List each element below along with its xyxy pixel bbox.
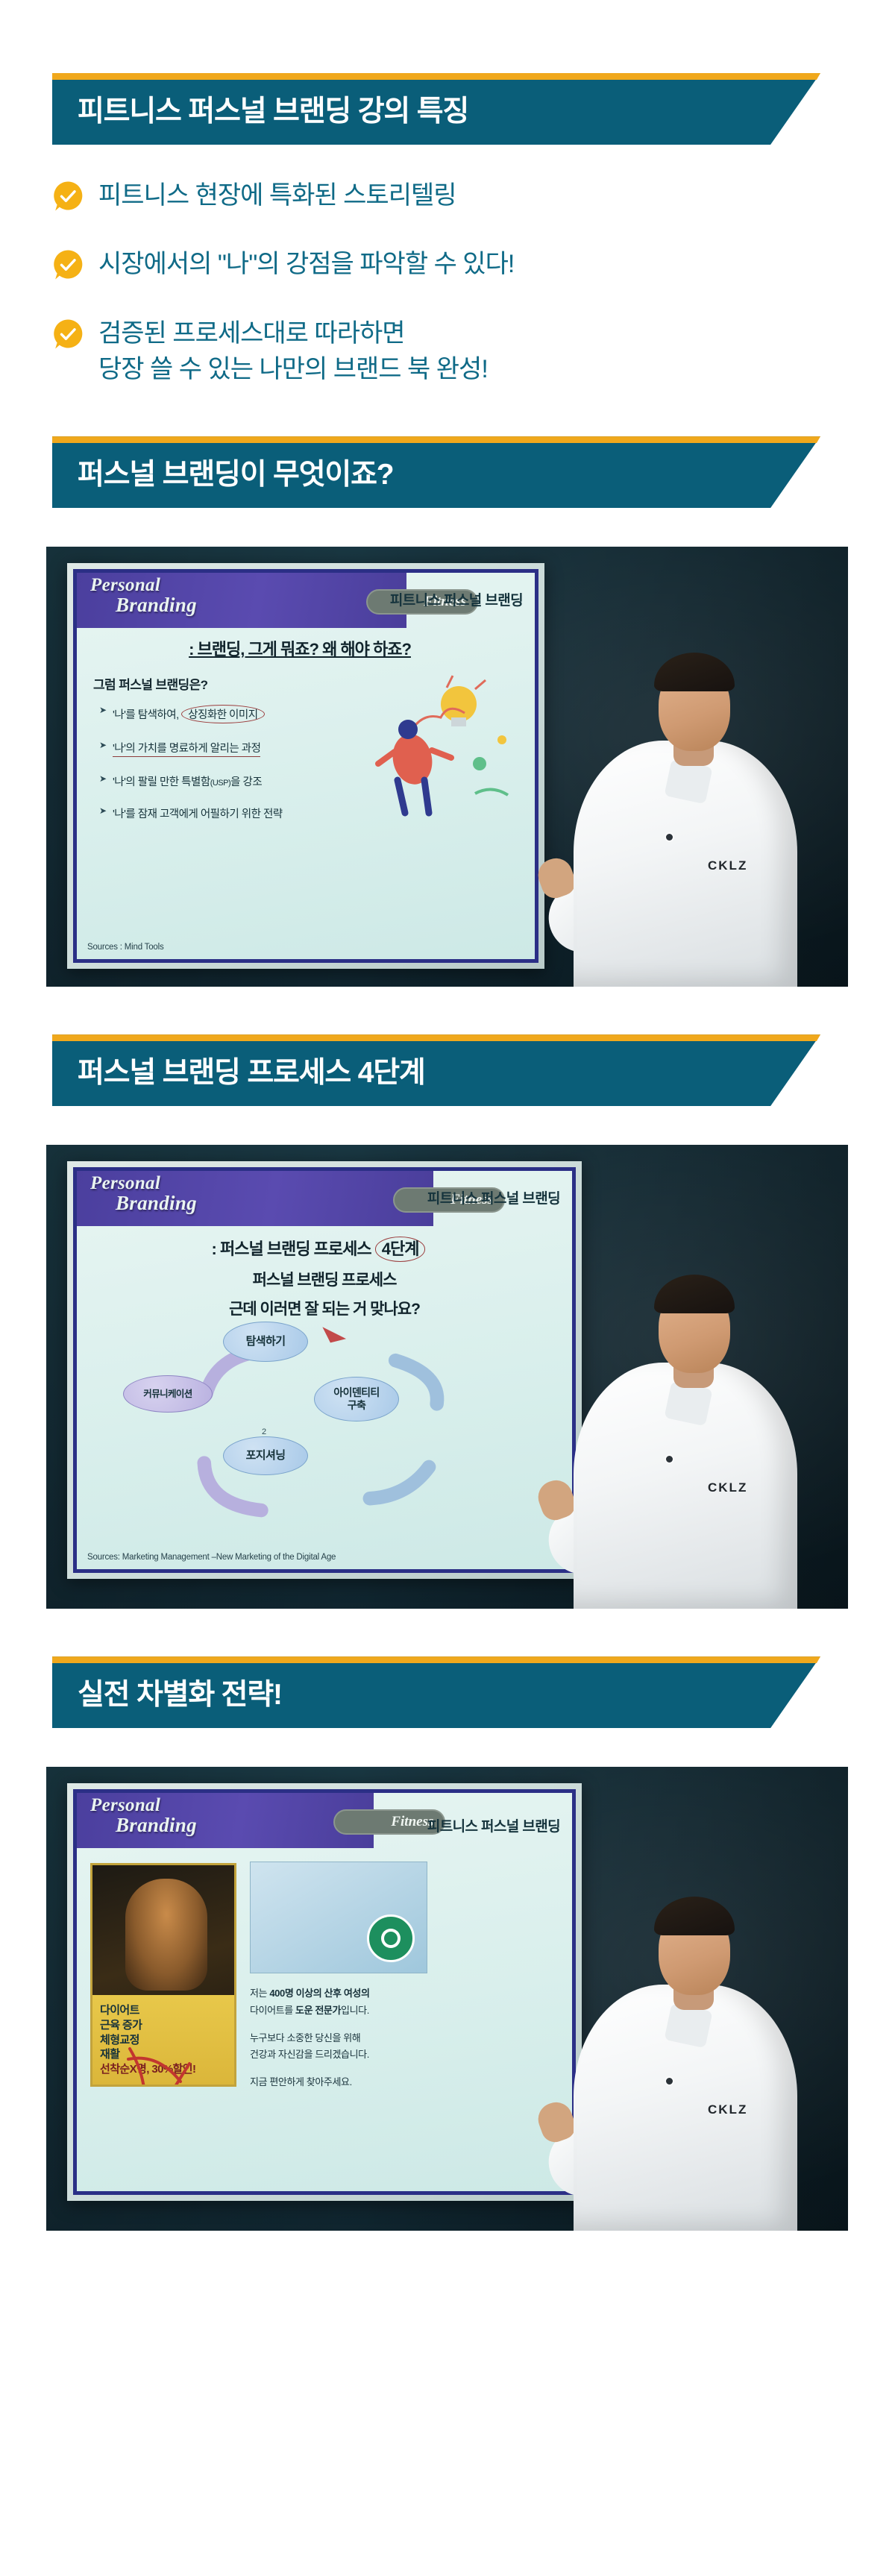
slide-frame: Personal Branding Fitness 피트니스 퍼스널 브랜딩 :… — [73, 1167, 576, 1573]
shirt-logo: CKLZ — [708, 1480, 747, 1495]
process-diagram: 탐색하기 아이덴티티 구축 포지셔닝 커뮤니케이션 2 — [77, 1317, 572, 1544]
shirt-logo: CKLZ — [708, 858, 747, 873]
presenter-hair — [654, 653, 735, 691]
promo-poster-panel: 다이어트 근육 증가 체형교정 재활 선착순X명, 30%할인! — [90, 1863, 236, 2087]
branding-illustration — [363, 668, 526, 829]
presenter-figure: CKLZ — [535, 547, 848, 987]
banner-title-differentiation: 실전 차별화 전략! — [78, 1656, 282, 1728]
spacer — [0, 1609, 895, 1656]
microphone-icon — [666, 1456, 673, 1463]
slide-subtitle: : 브랜딩, 그게 뭐죠? 왜 해야 하죠? — [77, 638, 523, 661]
personal-branding-logo: Personal Branding — [90, 1174, 197, 1213]
personal-branding-logo: Personal Branding — [90, 1796, 197, 1835]
banner-accent-bar — [52, 1034, 820, 1041]
promo-line: 근육 증가 — [100, 2018, 195, 2033]
presenter-figure: CKLZ — [535, 1169, 848, 1609]
presenter-hair — [654, 1275, 735, 1313]
logo-line-1: Personal — [90, 1173, 160, 1193]
promo-body: 다이어트 근육 증가 체형교정 재활 선착순X명, 30%할인! — [92, 1995, 234, 2085]
spacer — [0, 987, 895, 1034]
spacer — [0, 387, 895, 436]
banner-title-process: 퍼스널 브랜딩 프로세스 4단계 — [78, 1034, 425, 1106]
slide-subtitle: : 퍼스널 브랜딩 프로세스 4단계 — [77, 1237, 560, 1262]
spacer — [0, 1106, 895, 1145]
feature-bullet-list: 피트니스 현장에 특화된 스토리텔링 시장에서의 "나"의 강점을 파악할 수 … — [0, 178, 895, 387]
slide-frame: Personal Branding Fitness 피트니스 퍼스널 브랜딩 :… — [73, 569, 538, 963]
spacer — [0, 1728, 895, 1767]
banner-accent-bar — [52, 1656, 820, 1663]
copy-paragraph: 지금 편안하게 찾아주세요. — [250, 2074, 436, 2091]
lecture-screenshot-3: Personal Branding Fitness 피트니스 퍼스널 브랜딩 다… — [46, 1767, 848, 2231]
banner-accent-bar — [52, 73, 820, 80]
shirt-logo: CKLZ — [708, 2102, 747, 2117]
promo-discount: 선착순X명, 30%할인! — [100, 2062, 195, 2077]
bullet-line: 시장에서의 "나"의 강점을 파악할 수 있다! — [98, 246, 514, 282]
projector-screen-1: Personal Branding Fitness 피트니스 퍼스널 브랜딩 :… — [67, 563, 544, 969]
brand-badge-icon — [367, 1914, 415, 1962]
logo-line-2: Branding — [90, 595, 197, 616]
promo-text: 다이어트 근육 증가 체형교정 재활 선착순X명, 30%할인! — [100, 2003, 195, 2077]
process-node-1: 탐색하기 — [223, 1322, 308, 1362]
slide-course-title: 피트니스 퍼스널 브랜딩 — [390, 589, 523, 609]
lecture-screenshot-1: Personal Branding Fitness 피트니스 퍼스널 브랜딩 :… — [46, 547, 848, 987]
personal-branding-logo: Personal Branding — [90, 576, 197, 615]
microphone-icon — [666, 2078, 673, 2085]
logo-line-1: Personal — [90, 575, 160, 595]
check-circle-icon — [52, 180, 84, 212]
bullet-line: 피트니스 현장에 특화된 스토리텔링 — [98, 178, 456, 213]
slide-sources: Sources : Mind Tools — [87, 943, 164, 952]
section-banner-what-is-pb: 퍼스널 브랜딩이 무엇이죠? — [52, 436, 820, 508]
spacer — [0, 508, 895, 547]
bullet-line: 검증된 프로세스대로 따라하면 — [98, 315, 488, 351]
microphone-icon — [666, 834, 673, 841]
circled-phrase: 4단계 — [375, 1237, 426, 1262]
section-banner-features: 피트니스 퍼스널 브랜딩 강의 특징 — [52, 73, 820, 145]
projector-screen-2: Personal Branding Fitness 피트니스 퍼스널 브랜딩 :… — [67, 1161, 582, 1579]
slide-logo-bar: Personal Branding Fitness — [77, 573, 406, 628]
copy-paragraph: 저는 400명 이상의 산후 여성의 다이어트를 도운 전문가입니다. — [250, 1985, 436, 2020]
testimonial-image-panel — [250, 1862, 427, 1973]
testimonial-copy: 저는 400명 이상의 산후 여성의 다이어트를 도운 전문가입니다. 누구보다… — [250, 1985, 436, 2102]
bullet-line: 당장 쓸 수 있는 나만의 브랜드 북 완성! — [98, 351, 488, 387]
list-item: 검증된 프로세스대로 따라하면 당장 쓸 수 있는 나만의 브랜드 북 완성! — [52, 315, 895, 388]
banner-accent-bar — [52, 436, 820, 443]
promo-line: 다이어트 — [100, 2003, 195, 2018]
hero-figure-image — [125, 1879, 207, 1991]
projector-screen-3: Personal Branding Fitness 피트니스 퍼스널 브랜딩 다… — [67, 1783, 582, 2201]
list-item: 시장에서의 "나"의 강점을 파악할 수 있다! — [52, 246, 895, 282]
list-item-text: 피트니스 현장에 특화된 스토리텔링 — [98, 178, 456, 213]
presenter-hair — [654, 1897, 735, 1935]
promo-line: 체형교정 — [100, 2033, 195, 2048]
promo-line: 재활 — [100, 2047, 195, 2062]
list-item-text: 시장에서의 "나"의 강점을 파악할 수 있다! — [98, 246, 514, 282]
top-spacer — [0, 0, 895, 73]
slide-logo-bar: Personal Branding Fitness — [77, 1171, 433, 1226]
section-banner-differentiation: 실전 차별화 전략! — [52, 1656, 820, 1728]
spacer — [0, 145, 895, 178]
slide-sources: Sources: Marketing Management –New Marke… — [87, 1553, 336, 1562]
list-item: 피트니스 현장에 특화된 스토리텔링 — [52, 178, 895, 213]
banner-title-features: 피트니스 퍼스널 브랜딩 강의 특징 — [78, 73, 468, 145]
logo-line-2: Branding — [90, 1193, 197, 1214]
section-banner-process: 퍼스널 브랜딩 프로세스 4단계 — [52, 1034, 820, 1106]
landing-page: 피트니스 퍼스널 브랜딩 강의 특징 피트니스 현장에 특화된 스토리텔링 — [0, 0, 895, 2576]
process-node-2: 아이덴티티 구축 — [314, 1377, 399, 1421]
logo-line-1: Personal — [90, 1795, 160, 1815]
step-mark: 2 — [262, 1427, 266, 1436]
slide-frame: Personal Branding Fitness 피트니스 퍼스널 브랜딩 다… — [73, 1789, 576, 2195]
list-item-text: 검증된 프로세스대로 따라하면 당장 쓸 수 있는 나만의 브랜드 북 완성! — [98, 315, 488, 388]
presenter-figure: CKLZ — [535, 1791, 848, 2231]
check-circle-icon — [52, 318, 84, 350]
banner-title-what-is-pb: 퍼스널 브랜딩이 무엇이죠? — [78, 436, 393, 508]
process-node-3: 포지셔닝 — [223, 1436, 308, 1475]
check-circle-icon — [52, 249, 84, 280]
slide-line-2: 퍼스널 브랜딩 프로세스 — [77, 1269, 572, 1291]
process-node-4: 커뮤니케이션 — [123, 1375, 213, 1413]
lecture-screenshot-2: Personal Branding Fitness 피트니스 퍼스널 브랜딩 :… — [46, 1145, 848, 1609]
copy-paragraph: 누구보다 소중한 당신을 위해 건강과 자신감을 드리겠습니다. — [250, 2030, 436, 2064]
logo-line-2: Branding — [90, 1815, 197, 1836]
circled-phrase: 상징화한 이미지 — [181, 705, 264, 723]
slide-logo-bar: Personal Branding Fitness — [77, 1793, 374, 1848]
